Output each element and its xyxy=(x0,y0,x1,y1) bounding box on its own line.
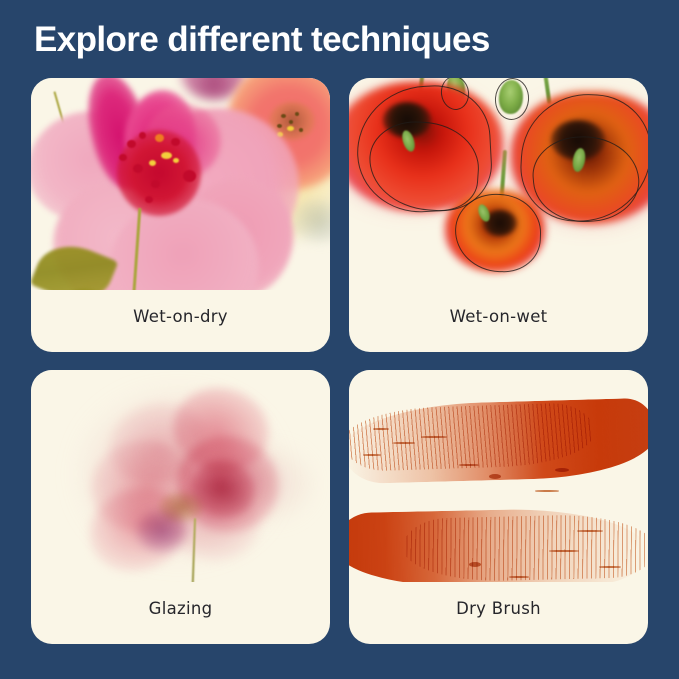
stamen-dot xyxy=(133,164,143,173)
stamen-dot xyxy=(173,158,179,163)
stamen-dot xyxy=(281,114,286,118)
dry-brush-orange-strokes xyxy=(349,370,648,582)
stamen-dot xyxy=(289,120,293,124)
stamen-dot xyxy=(287,126,294,131)
techniques-page: Explore different techniques xyxy=(0,0,679,679)
stamen-dot xyxy=(171,138,180,146)
watercolor-glazed-rose-painting xyxy=(31,370,330,582)
stamen-dot xyxy=(161,152,172,159)
technique-card-dry-brush[interactable]: Dry Brush xyxy=(349,370,648,644)
brush-speck xyxy=(549,550,579,552)
stamen-dot xyxy=(295,112,299,116)
watercolor-pink-flower-painting xyxy=(31,78,330,290)
dry-brush-grain-bottom xyxy=(402,513,648,582)
stamen-dot xyxy=(149,160,156,166)
stamen-dot xyxy=(277,124,282,128)
technique-label-glazing: Glazing xyxy=(31,582,330,644)
technique-card-wet-on-dry[interactable]: Wet-on-dry xyxy=(31,78,330,352)
technique-label-wet-on-wet: Wet-on-wet xyxy=(349,290,648,352)
technique-card-glazing[interactable]: Glazing xyxy=(31,370,330,644)
brush-speck xyxy=(393,442,415,444)
brush-speck xyxy=(373,428,389,430)
stamen-dot xyxy=(299,128,303,132)
stamen-dot xyxy=(119,154,127,161)
page-title: Explore different techniques xyxy=(34,18,490,62)
stamen-dot xyxy=(127,140,136,148)
brush-speck xyxy=(363,454,381,456)
ink-contour-line xyxy=(493,78,531,121)
stamen-dot xyxy=(151,180,160,188)
brush-speck xyxy=(535,490,559,492)
stamen-dot xyxy=(183,170,196,182)
technique-card-grid: Wet-on-dry xyxy=(31,78,648,644)
brush-speck xyxy=(599,566,621,568)
brush-speck xyxy=(489,474,501,479)
brush-speck xyxy=(509,576,529,578)
technique-label-wet-on-dry: Wet-on-dry xyxy=(31,290,330,352)
brush-speck xyxy=(469,562,481,567)
brush-speck xyxy=(577,530,603,532)
brush-speck xyxy=(421,436,447,438)
technique-card-wet-on-wet[interactable]: Wet-on-wet xyxy=(349,78,648,352)
stamen-dot xyxy=(145,196,153,203)
flower-center xyxy=(159,492,203,522)
watercolor-red-poppies-painting xyxy=(349,78,648,290)
brush-speck xyxy=(459,464,479,466)
technique-label-dry-brush: Dry Brush xyxy=(349,582,648,644)
stamen-dot xyxy=(139,132,146,139)
stamen-dot xyxy=(155,134,164,142)
brush-speck xyxy=(555,468,569,472)
